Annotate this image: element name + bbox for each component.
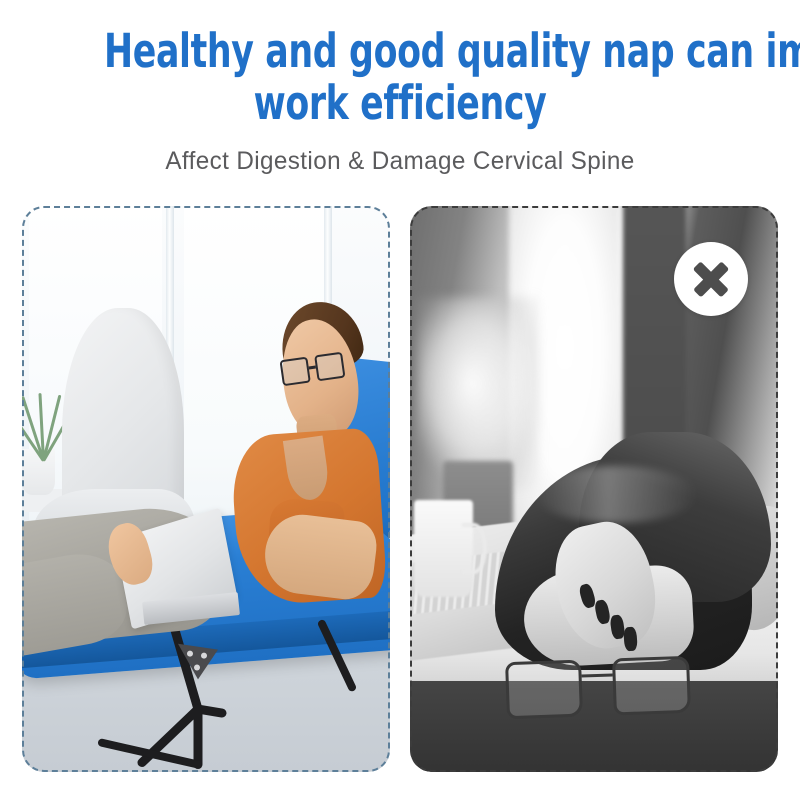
product-comparison-banner: Healthy and good quality nap can improve… [0, 0, 800, 800]
hair-highlight [535, 466, 697, 523]
panel-good-nap [22, 206, 390, 772]
banner-header: Healthy and good quality nap can improve… [0, 0, 800, 176]
comparison-panels [0, 206, 800, 774]
headline-line-1: Healthy and good quality nap can improve [104, 24, 800, 79]
eyeglasses-on-desk-icon [501, 655, 694, 718]
headline-line-2: work efficiency [104, 78, 696, 130]
person-reclining [22, 206, 390, 772]
painted-fingernails [579, 580, 642, 648]
photo-man-on-cot [22, 206, 390, 772]
panel-bad-nap [410, 206, 778, 772]
headline: Healthy and good quality nap can improve… [104, 26, 696, 130]
photo-woman-asleep-at-desk [410, 206, 778, 772]
subtitle: Affect Digestion & Damage Cervical Spine [12, 146, 788, 176]
x-mark-icon [674, 242, 748, 316]
